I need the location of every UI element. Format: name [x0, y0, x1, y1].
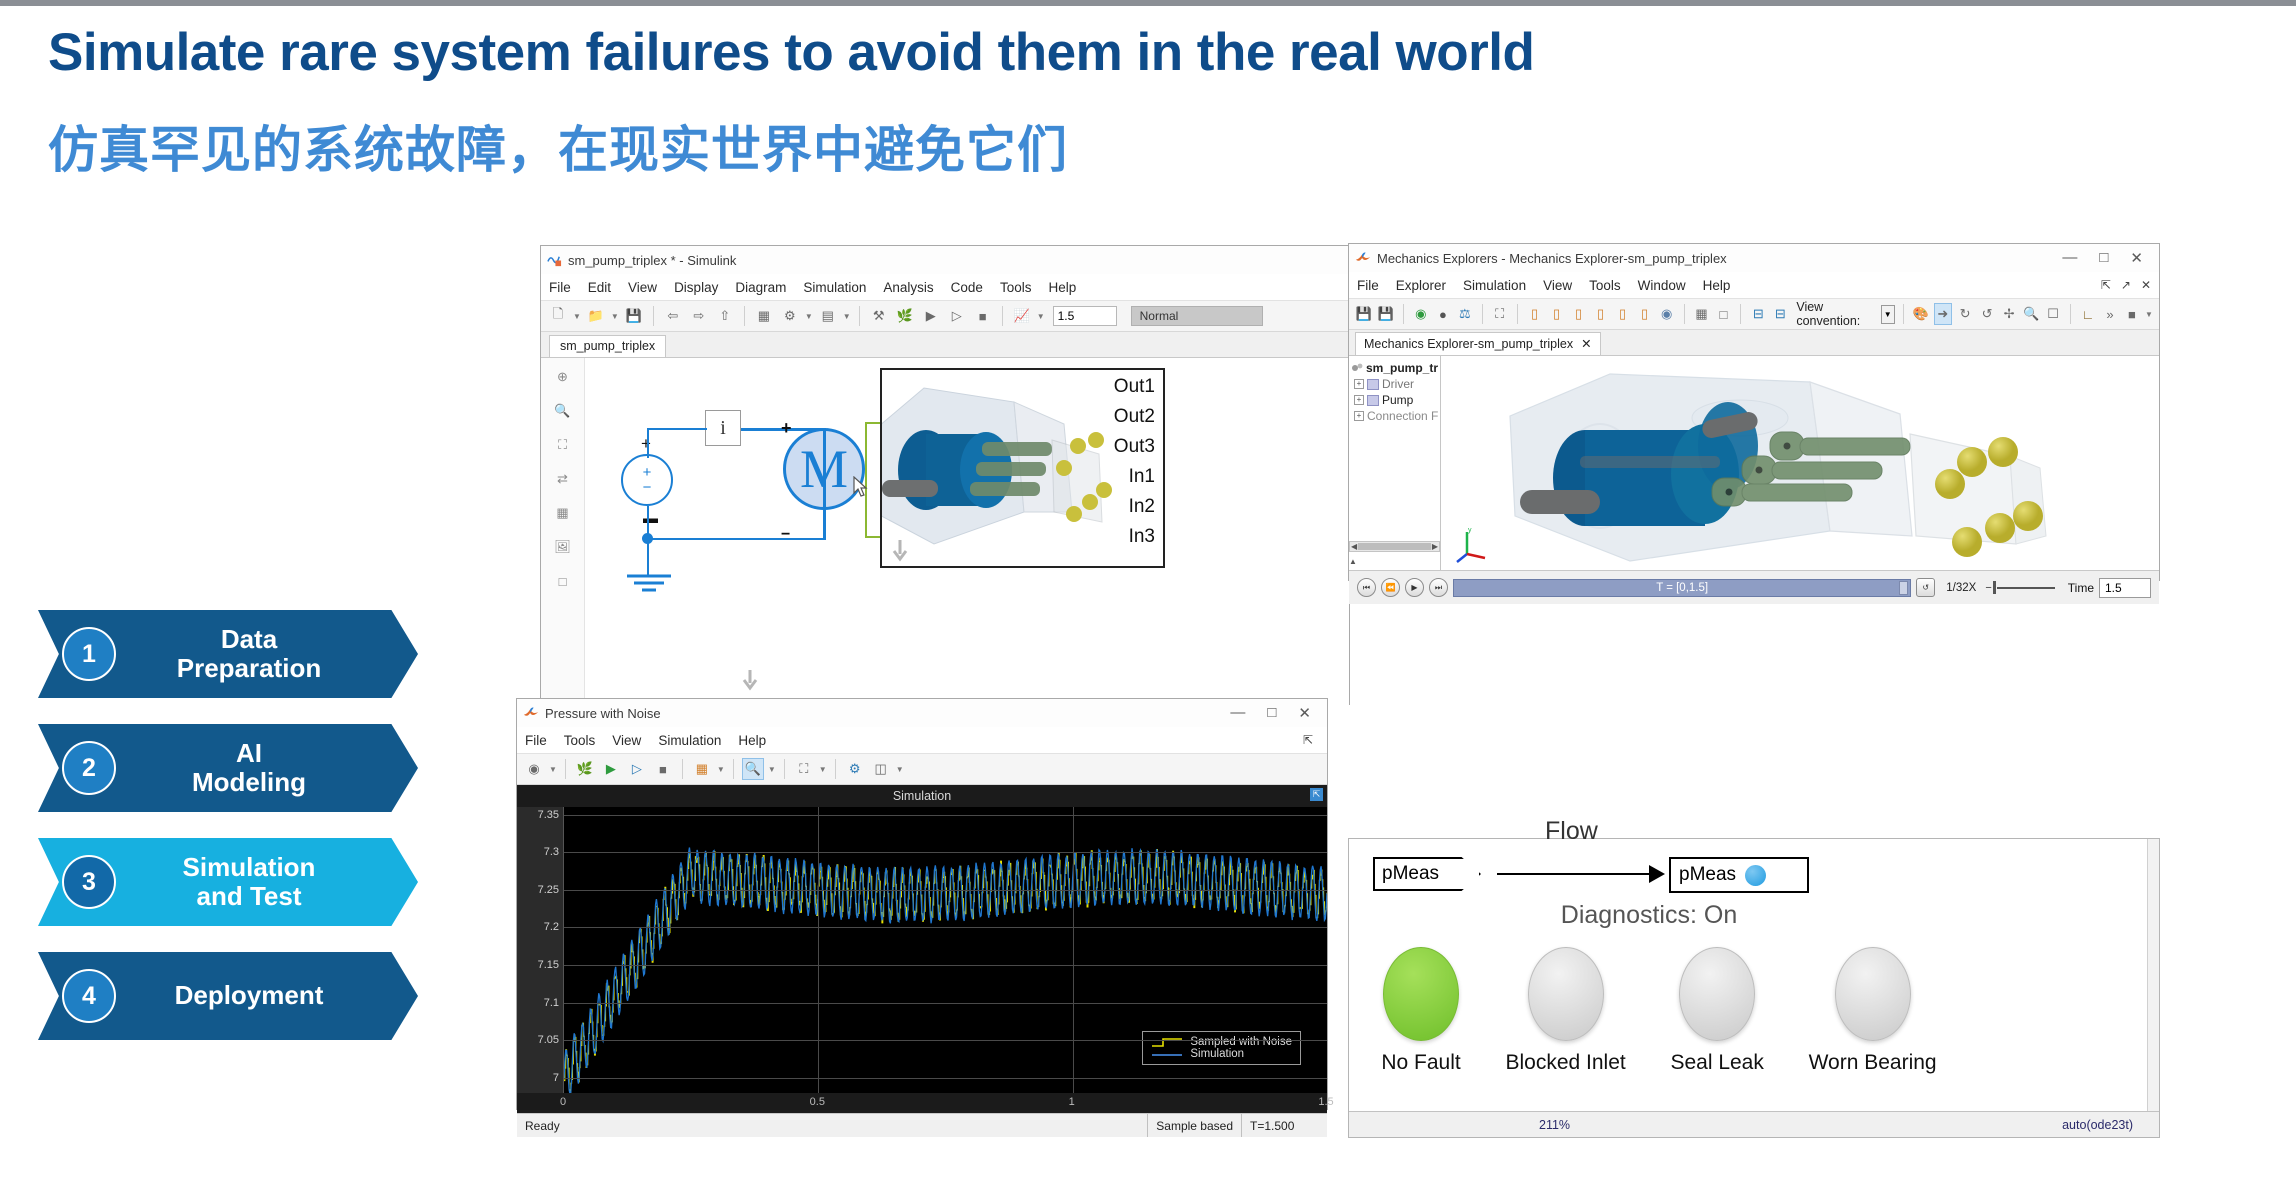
legend-swatch-line-icon	[1151, 1049, 1183, 1060]
chart-legend: Sampled with Noise Simulation	[1142, 1031, 1301, 1065]
plot-area[interactable]: Sampled with Noise Simulation	[563, 807, 1327, 1093]
rotate-icon[interactable]: ↺	[1978, 303, 1996, 325]
scope-titlebar[interactable]: Pressure with Noise — □ ✕	[517, 699, 1327, 727]
pump-port-in2: In2	[1129, 496, 1155, 518]
scroll-right-icon[interactable]: ▶	[1432, 542, 1438, 551]
pump-3d-thumbnail	[880, 368, 1114, 568]
simulation-data-inspector-icon[interactable]: 📈	[1011, 305, 1033, 327]
toolbar-separator	[1903, 304, 1904, 324]
step-number-3: 3	[62, 855, 116, 909]
grid-line	[564, 890, 1327, 891]
toolbar-separator	[1684, 304, 1685, 324]
zoom-in-icon[interactable]: 🔍	[742, 758, 764, 780]
lamp-indicator-icon	[1383, 947, 1459, 1041]
zoom-level: 211%	[1539, 1118, 1570, 1132]
current-sensor-block[interactable]: i	[705, 410, 741, 446]
current-sensor-label: i	[720, 417, 726, 440]
simulink-titlebar[interactable]: sm_pump_triplex * - Simulink	[541, 246, 1349, 274]
run-icon[interactable]: ▶	[920, 305, 942, 327]
new-model-caret[interactable]: ▼	[573, 312, 581, 321]
background-caret[interactable]: ▼	[2145, 310, 2153, 319]
step-forward-icon[interactable]: ▷	[946, 305, 968, 327]
maximize-icon[interactable]: □	[1267, 704, 1276, 722]
scope-toolbar: ◉▼ 🌿 ▶ ▷ ■ ▦▼ 🔍▼ ⛶▼ ⚙ ◫▼	[517, 753, 1327, 785]
slide-top-rule	[0, 0, 2296, 6]
legend-entry-simulation: Simulation	[1151, 1048, 1292, 1060]
axes-triad-icon[interactable]: ∟	[2079, 303, 2097, 325]
box-icon[interactable]: □	[551, 570, 575, 592]
menu-file[interactable]: File	[549, 280, 571, 295]
time-range-label: T = [0,1.5]	[1656, 582, 1708, 594]
fault-lamp-blocked-inlet[interactable]: Blocked Inlet	[1505, 947, 1625, 1075]
signal-goto-pmeas[interactable]: pMeas	[1373, 857, 1481, 891]
simulink-body: ⊕ 🔍 ⛶ ⇄ ▦ 🖼 □ + − + ▬ i M	[541, 358, 1349, 728]
menu-simulation[interactable]: Simulation	[658, 733, 721, 748]
y-axis: 77.057.17.157.27.257.37.35	[517, 807, 563, 1093]
layout-caret[interactable]: ▼	[717, 765, 725, 774]
menu-simulation[interactable]: Simulation	[1463, 278, 1526, 293]
grid-line	[1073, 807, 1074, 1093]
tree-label: Connection F	[1367, 409, 1438, 423]
source-plus-icon: +	[643, 465, 652, 480]
time-value-field[interactable]: 1.5	[2099, 578, 2151, 598]
save-icon[interactable]: 💾	[623, 305, 645, 327]
close-icon[interactable]: ✕	[1298, 704, 1311, 722]
view-bottom-icon[interactable]: ▯	[1636, 303, 1654, 325]
autoscale-caret[interactable]: ▼	[819, 765, 827, 774]
scope-plot-title: Simulation ⇱	[517, 785, 1327, 807]
flow-label: Flow	[1545, 817, 1598, 846]
junction-dot-icon	[642, 533, 653, 544]
stop-record-icon[interactable]: ●	[1434, 303, 1452, 325]
stop-time-input[interactable]	[1053, 306, 1117, 326]
simulink-app-icon	[547, 253, 562, 268]
scope-window-controls: — □ ✕	[1230, 704, 1321, 722]
rewind-to-start-icon[interactable]: ⏮	[1357, 578, 1376, 597]
grid-line	[564, 1003, 1327, 1004]
scope-subtitle-text: Simulation	[893, 789, 951, 803]
diagnostics-panel: Flow pMeas pMeas Diagnostics: On No Faul…	[1348, 838, 2160, 1138]
mechanics-titlebar[interactable]: Mechanics Explorers - Mechanics Explorer…	[1349, 244, 2159, 272]
x-tick-label: 1.5	[1318, 1096, 1333, 1108]
tree-horizontal-scrollbar[interactable]: ◀ ▶	[1349, 541, 1440, 552]
tree-label: Driver	[1382, 377, 1414, 391]
pump-port-in1: In1	[1129, 466, 1155, 488]
step-label-1: Data Preparation	[116, 625, 418, 683]
tree-vertical-scroll-up[interactable]: ▲	[1349, 555, 1440, 568]
zoom-icon[interactable]: 🔍	[2022, 303, 2040, 325]
grid-line	[564, 1040, 1327, 1041]
status-dot-icon	[1745, 865, 1766, 886]
collapse-tree-icon[interactable]: ⊟	[1771, 303, 1789, 325]
simulation-mode-select[interactable]: Normal	[1131, 306, 1263, 326]
tree-node-root[interactable]: sm_pump_tr	[1351, 360, 1438, 376]
view-iso-icon[interactable]: ◉	[1658, 303, 1676, 325]
view-left-icon[interactable]: ▯	[1570, 303, 1588, 325]
stop-icon[interactable]: ■	[652, 758, 674, 780]
menu-code[interactable]: Code	[951, 280, 983, 295]
fit-to-view-icon[interactable]: ⛶	[551, 434, 575, 456]
expand-tree-icon[interactable]: ⊟	[1749, 303, 1767, 325]
new-model-icon[interactable]: 🗋	[547, 305, 569, 327]
menu-window[interactable]: Window	[1638, 278, 1686, 293]
workflow-step-3[interactable]: 3 Simulation and Test	[38, 838, 418, 926]
step-number-2: 2	[62, 741, 116, 795]
grid-line	[818, 807, 819, 1093]
lamp-label: Worn Bearing	[1809, 1051, 1937, 1075]
toolbar-separator	[1403, 304, 1404, 324]
wire-segment	[647, 538, 825, 540]
y-tick-label: 7.2	[544, 921, 559, 933]
matlab-app-icon	[523, 706, 539, 720]
toolbar-separator	[744, 306, 745, 326]
step-back-icon[interactable]: ⏪	[1381, 578, 1400, 597]
view-top-icon[interactable]: ▯	[1614, 303, 1632, 325]
signal-goto-label: pMeas	[1382, 863, 1439, 885]
menu-tools[interactable]: Tools	[1589, 278, 1621, 293]
float-icon[interactable]: ↗	[2121, 278, 2131, 292]
menu-help[interactable]: Help	[1703, 278, 1731, 293]
undock-icon[interactable]: ⇱	[1303, 733, 1319, 747]
stop-icon[interactable]: ■	[972, 305, 994, 327]
workflow-step-4[interactable]: 4 Deployment	[38, 952, 418, 1040]
subsystem-icon[interactable]: ▦	[753, 305, 775, 327]
mechanics-toolbar: 💾 💾 ◉ ● ⚖ ⛶ ▯ ▯ ▯ ▯ ▯ ▯ ◉ ▦ □ ⊟ ⊟ View c…	[1349, 298, 2159, 330]
split-view-icon[interactable]: ▦	[1692, 303, 1710, 325]
signal-statistics-icon[interactable]: ◫	[870, 758, 892, 780]
save-video-icon[interactable]: 💾	[1377, 303, 1395, 325]
y-tick-label: 7.3	[544, 846, 559, 858]
loop-playback-icon[interactable]: ↺	[1916, 578, 1935, 597]
model-tree-panel[interactable]: sm_pump_tr + Driver + Pump + Connection …	[1349, 356, 1441, 570]
workflow-steps: 1 Data Preparation 2 AI Modeling 3 Simul…	[38, 610, 418, 1066]
toolbar-separator	[859, 306, 860, 326]
legend-label: Simulation	[1190, 1048, 1244, 1060]
mechanics-body: sm_pump_tr + Driver + Pump + Connection …	[1349, 356, 2159, 570]
step-forward-icon[interactable]: ▷	[626, 758, 648, 780]
tree-node-pump[interactable]: + Pump	[1351, 392, 1438, 408]
menu-tools[interactable]: Tools	[1000, 280, 1032, 295]
configuration-properties-icon[interactable]: ◉	[523, 758, 545, 780]
simulink-toolbar: 🗋▼ 📁▼ 💾 ⇦ ⇨ ⇧ ▦ ⚙▼ ▤▼ ⚒ 🌿 ▶ ▷ ■ 📈▼ Norma…	[541, 300, 1349, 332]
toolbar-separator	[1002, 306, 1003, 326]
grid-line	[564, 965, 1327, 966]
signal-display-pmeas[interactable]: pMeas	[1669, 857, 1809, 893]
simulation-mode-value: Normal	[1140, 309, 1179, 323]
wire-segment	[647, 428, 707, 430]
lamp-indicator-icon	[1679, 947, 1755, 1041]
expand-icon[interactable]: +	[1354, 395, 1364, 405]
minimize-icon[interactable]: —	[2062, 249, 2077, 267]
motor-plus-label: +	[781, 418, 792, 439]
forward-arrow-icon[interactable]: ⇨	[688, 305, 710, 327]
simulink-title-text: sm_pump_triplex * - Simulink	[568, 253, 736, 268]
pan-icon[interactable]: ✢	[2000, 303, 2018, 325]
x-tick-label: 0.5	[810, 1096, 825, 1108]
toolbar-separator	[565, 759, 566, 779]
page-title-english: Simulate rare system failures to avoid t…	[48, 22, 1534, 83]
stats-caret[interactable]: ▼	[896, 765, 904, 774]
pump-3d-model	[1441, 356, 2159, 570]
toolbar-separator	[2070, 304, 2071, 324]
lamp-label: Seal Leak	[1670, 1051, 1763, 1075]
axes-triad-icon: y	[1455, 524, 1495, 564]
toolbar-separator	[1482, 304, 1483, 324]
single-view-icon[interactable]: □	[1714, 303, 1732, 325]
assembly-icon	[1351, 362, 1363, 374]
run-icon[interactable]: ▶	[600, 758, 622, 780]
pump-port-in3: In3	[1129, 526, 1155, 548]
step-number-4: 4	[62, 969, 116, 1023]
view-back-icon[interactable]: ▯	[1548, 303, 1566, 325]
library-browser-icon[interactable]: ▤	[817, 305, 839, 327]
expand-plot-icon[interactable]: ⇱	[1310, 788, 1323, 801]
select-cursor-icon[interactable]: ➜	[1934, 303, 1952, 325]
step-label-4: Deployment	[116, 981, 418, 1010]
fast-restart-icon[interactable]: 🌿	[894, 305, 916, 327]
subsystem-icon	[1367, 395, 1379, 406]
diagnostics-title: Diagnostics: On	[1349, 901, 1949, 930]
mechanics-explorer-window: Mechanics Explorers - Mechanics Explorer…	[1348, 243, 2160, 581]
signal-wire	[1497, 873, 1657, 875]
simulink-tab-row: sm_pump_triplex	[541, 332, 1349, 358]
tree-node-driver[interactable]: + Driver	[1351, 376, 1438, 392]
speed-slider[interactable]: −	[1985, 581, 2054, 594]
fit-to-window-icon[interactable]: ⛶	[1491, 303, 1509, 325]
open-caret[interactable]: ▼	[611, 312, 619, 321]
fast-restart-icon[interactable]: 🌿	[574, 758, 596, 780]
pump-port-out3: Out3	[1114, 436, 1155, 458]
sdi-caret[interactable]: ▼	[1037, 312, 1045, 321]
lamp-indicator-icon	[1835, 947, 1911, 1041]
scope-sample-mode: Sample based	[1147, 1114, 1241, 1137]
scroll-left-icon[interactable]: ◀	[1351, 542, 1357, 551]
fault-lamp-seal-leak[interactable]: Seal Leak	[1670, 947, 1763, 1075]
scope-plot-region[interactable]: 77.057.17.157.27.257.37.35 Sampled with …	[517, 807, 1327, 1093]
mechanics-tab-row: Mechanics Explorer-sm_pump_triplex ✕	[1349, 330, 2159, 356]
simulink-canvas[interactable]: + − + ▬ i M + −	[585, 358, 1349, 728]
subsystem-icon	[1367, 379, 1379, 390]
mechanics-title-text: Mechanics Explorers - Mechanics Explorer…	[1377, 251, 1727, 266]
toolbar-separator	[1517, 304, 1518, 324]
zoom-region-icon[interactable]: ☐	[2044, 303, 2062, 325]
zoom-in-icon[interactable]: 🔍	[551, 400, 575, 422]
menu-simulation[interactable]: Simulation	[803, 280, 866, 295]
autoscale-icon[interactable]: ⛶	[793, 758, 815, 780]
undock-icon[interactable]: ⇱	[2101, 278, 2111, 292]
expand-icon[interactable]: +	[1354, 411, 1364, 421]
voltage-source-block[interactable]: + −	[621, 454, 673, 506]
grid-line	[564, 927, 1327, 928]
hide-explorer-icon[interactable]: ⊕	[551, 366, 575, 388]
y-tick-label: 7.25	[538, 884, 559, 896]
settings-caret[interactable]: ▼	[805, 312, 813, 321]
matlab-app-icon	[1355, 251, 1371, 265]
play-record-icon[interactable]: ◉	[1412, 303, 1430, 325]
model-settings-gear-icon[interactable]: ⚙	[779, 305, 801, 327]
terminal-plus-label: +	[641, 434, 651, 454]
grid-line	[564, 815, 1327, 816]
scope-menubar: File Tools View Simulation Help ⇱	[517, 727, 1327, 753]
step-label-2: AI Modeling	[116, 739, 418, 797]
library-caret[interactable]: ▼	[843, 312, 851, 321]
tree-label: Pump	[1382, 393, 1413, 407]
update-model-icon[interactable]: ⚒	[868, 305, 890, 327]
save-animation-icon[interactable]: 💾	[1355, 303, 1373, 325]
navigate-icon[interactable]: ⇄	[551, 468, 575, 490]
menu-view[interactable]: View	[628, 280, 657, 295]
maximize-icon[interactable]: □	[2099, 249, 2108, 267]
vertical-scrollbar[interactable]	[2147, 839, 2159, 1111]
up-arrow-icon[interactable]: ⇧	[714, 305, 736, 327]
solver-name: auto(ode23t)	[2062, 1118, 2133, 1132]
workflow-step-1[interactable]: 1 Data Preparation	[38, 610, 418, 698]
time-field-label: Time	[2068, 581, 2094, 595]
zoom-caret[interactable]: ▼	[768, 765, 776, 774]
menu-help[interactable]: Help	[1048, 280, 1076, 295]
mechanics-playback-bar: ⏮ ⏪ ▶ ⏭ T = [0,1.5] ↺ 1/32X − Time 1.5	[1349, 570, 2159, 604]
image-icon[interactable]: 🖼	[551, 536, 575, 558]
wire-segment	[823, 428, 826, 540]
scope-title-text: Pressure with Noise	[545, 706, 661, 721]
pump-subsystem-block[interactable]: Out1 Out2 Out3 In1 In2 In3	[880, 368, 1165, 568]
workflow-step-2[interactable]: 2 AI Modeling	[38, 724, 418, 812]
y-tick-label: 7.15	[538, 959, 559, 971]
playback-speed-label: 1/32X	[1946, 582, 1976, 594]
tab-label: Mechanics Explorer-sm_pump_triplex	[1364, 337, 1573, 351]
export-icon[interactable]: ⚖	[1456, 303, 1474, 325]
y-tick-label: 7.1	[544, 997, 559, 1009]
play-icon[interactable]: ▶	[1405, 578, 1424, 597]
down-arrow-icon	[892, 540, 908, 562]
minimize-icon[interactable]: —	[1230, 704, 1245, 722]
view-convention-dropdown[interactable]: ▼	[1881, 305, 1895, 324]
scope-window: Pressure with Noise — □ ✕ File Tools Vie…	[516, 698, 1328, 1110]
step-label-3: Simulation and Test	[116, 853, 418, 911]
motor-minus-label: −	[781, 526, 790, 544]
lamp-label: Blocked Inlet	[1505, 1051, 1625, 1075]
pump-port-labels: Out1 Out2 Out3 In1 In2 In3	[1114, 376, 1155, 548]
x-tick-label: 0	[560, 1096, 566, 1108]
toolbar-separator	[784, 759, 785, 779]
open-folder-icon[interactable]: 📁	[585, 305, 607, 327]
expand-icon[interactable]: +	[1354, 379, 1364, 389]
legend-entry-sampled: Sampled with Noise	[1151, 1036, 1292, 1048]
y-tick-label: 7.05	[538, 1034, 559, 1046]
y-tick-label: 7.35	[538, 809, 559, 821]
svg-text:y: y	[1468, 527, 1472, 534]
lamp-indicator-icon	[1528, 947, 1604, 1041]
orbit-icon[interactable]: ↻	[1956, 303, 1974, 325]
toolbar-separator	[653, 306, 654, 326]
view-right-icon[interactable]: ▯	[1592, 303, 1610, 325]
cursor-measurements-icon[interactable]: ⚙	[844, 758, 866, 780]
view-front-icon[interactable]: ▯	[1526, 303, 1544, 325]
scope-sim-time: T=1.500	[1241, 1114, 1327, 1137]
fault-lamp-no-fault[interactable]: No Fault	[1381, 947, 1460, 1075]
menu-file[interactable]: File	[525, 733, 547, 748]
tab-sm-pump-triplex[interactable]: sm_pump_triplex	[549, 335, 666, 357]
down-arrow-icon	[742, 670, 758, 692]
menu-analysis[interactable]: Analysis	[883, 280, 933, 295]
simulink-window: sm_pump_triplex * - Simulink File Edit V…	[540, 245, 1350, 705]
legend-label: Sampled with Noise	[1190, 1036, 1292, 1048]
mechanics-menubar: File Explorer Simulation View Tools Wind…	[1349, 272, 2159, 298]
time-slider[interactable]: T = [0,1.5]	[1453, 579, 1911, 597]
source-minus-icon: −	[643, 480, 652, 495]
fault-lamp-worn-bearing[interactable]: Worn Bearing	[1809, 947, 1937, 1075]
legend-swatch-stairs-icon	[1151, 1037, 1183, 1048]
toolbar-separator	[1740, 304, 1741, 324]
pump-port-out1: Out1	[1114, 376, 1155, 398]
mouse-cursor-icon	[853, 476, 869, 498]
page-title-chinese: 仿真罕见的系统故障，在现实世界中避免它们	[48, 110, 1068, 182]
menu-diagram[interactable]: Diagram	[735, 280, 786, 295]
scope-status-text: Ready	[517, 1119, 568, 1133]
tree-node-connection-frames[interactable]: + Connection F	[1351, 408, 1438, 424]
grid-line	[564, 852, 1327, 853]
menu-display[interactable]: Display	[674, 280, 718, 295]
step-forward-icon[interactable]: ⏭	[1429, 578, 1448, 597]
layout-icon[interactable]: ▦	[691, 758, 713, 780]
tab-mechanics-explorer[interactable]: Mechanics Explorer-sm_pump_triplex ✕	[1355, 332, 1601, 355]
close-icon[interactable]: ✕	[2130, 249, 2143, 267]
lamp-label: No Fault	[1381, 1051, 1460, 1075]
background-color-icon[interactable]: ■	[2123, 303, 2141, 325]
ground-icon	[625, 572, 673, 598]
menu-help[interactable]: Help	[738, 733, 766, 748]
tab-close-icon[interactable]: ✕	[1581, 336, 1591, 351]
y-tick-label: 7	[553, 1072, 559, 1084]
wire-segment	[647, 428, 649, 458]
step-number-1: 1	[62, 627, 116, 681]
simulink-menubar: File Edit View Display Diagram Simulatio…	[541, 274, 1349, 300]
simulink-status-bar: 211% auto(ode23t)	[1349, 1111, 2159, 1137]
simulink-canvas-toolstrip: ⊕ 🔍 ⛶ ⇄ ▦ 🖼 □	[541, 358, 585, 728]
scope-status-bar: Ready Sample based T=1.500	[517, 1113, 1327, 1137]
menu-edit[interactable]: Edit	[588, 280, 611, 295]
close-panel-icon[interactable]: ✕	[2141, 278, 2151, 292]
terminal-minus-label: ▬	[643, 510, 658, 527]
pump-port-out2: Out2	[1114, 406, 1155, 428]
back-arrow-icon[interactable]: ⇦	[662, 305, 684, 327]
grid-line	[564, 1078, 1327, 1079]
menu-view[interactable]: View	[612, 733, 641, 748]
menu-tools[interactable]: Tools	[564, 733, 596, 748]
config-caret[interactable]: ▼	[549, 765, 557, 774]
tree-label: sm_pump_tr	[1366, 361, 1438, 375]
mechanics-3d-viewport[interactable]: y	[1441, 356, 2159, 570]
menu-explorer[interactable]: Explorer	[1396, 278, 1446, 293]
color-palette-icon[interactable]: 🎨	[1912, 303, 1930, 325]
annotation-icon[interactable]: ▦	[551, 502, 575, 524]
toolbar-separator	[733, 759, 734, 779]
menu-view[interactable]: View	[1543, 278, 1572, 293]
view-convention-label: View convention:	[1796, 300, 1873, 328]
signal-display-label: pMeas	[1679, 864, 1736, 886]
toolbar-separator	[682, 759, 683, 779]
scroll-thumb[interactable]	[1358, 543, 1431, 550]
menu-file[interactable]: File	[1357, 278, 1379, 293]
toolbar-overflow-icon[interactable]: »	[2101, 303, 2119, 325]
mechanics-window-controls: — □ ✕	[2062, 249, 2153, 267]
arrow-head-icon	[1649, 865, 1665, 883]
fault-lamp-row: No Fault Blocked Inlet Seal Leak Worn Be…	[1359, 947, 1959, 1075]
x-tick-label: 1	[1069, 1096, 1075, 1108]
x-axis: 00.511.5	[517, 1093, 1327, 1113]
toolbar-separator	[835, 759, 836, 779]
